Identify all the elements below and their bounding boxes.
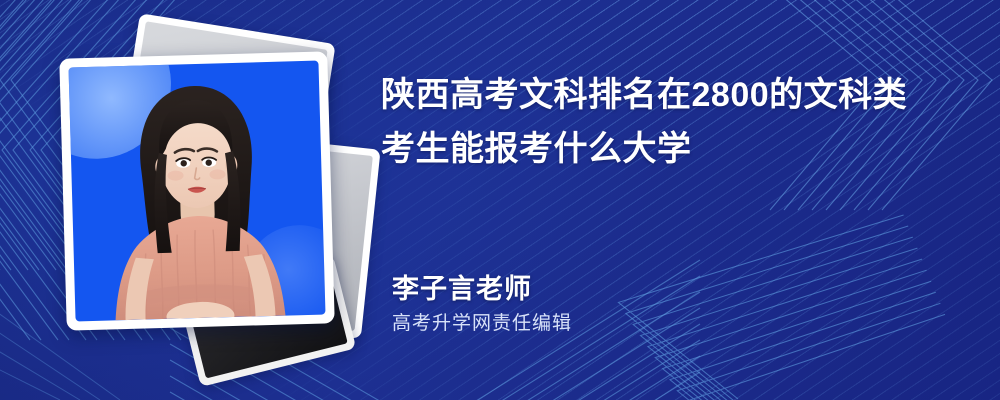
headline-line-2: 考生能报考什么大学 [381,122,971,176]
headline-line-1: 陕西高考文科排名在2800的文科类 [381,68,971,122]
author-photo-card [59,51,334,330]
author-role: 高考升学网责任编辑 [392,308,952,340]
author-photo [69,61,326,322]
author-name: 李子言老师 [392,270,952,308]
portrait-illustration [69,61,326,322]
byline-block: 李子言老师 高考升学网责任编辑 [392,270,952,340]
article-banner: 陕西高考文科排名在2800的文科类 考生能报考什么大学 李子言老师 高考升学网责… [0,0,1000,400]
photo-card-stack [55,35,355,355]
headline-block: 陕西高考文科排名在2800的文科类 考生能报考什么大学 [381,68,971,176]
